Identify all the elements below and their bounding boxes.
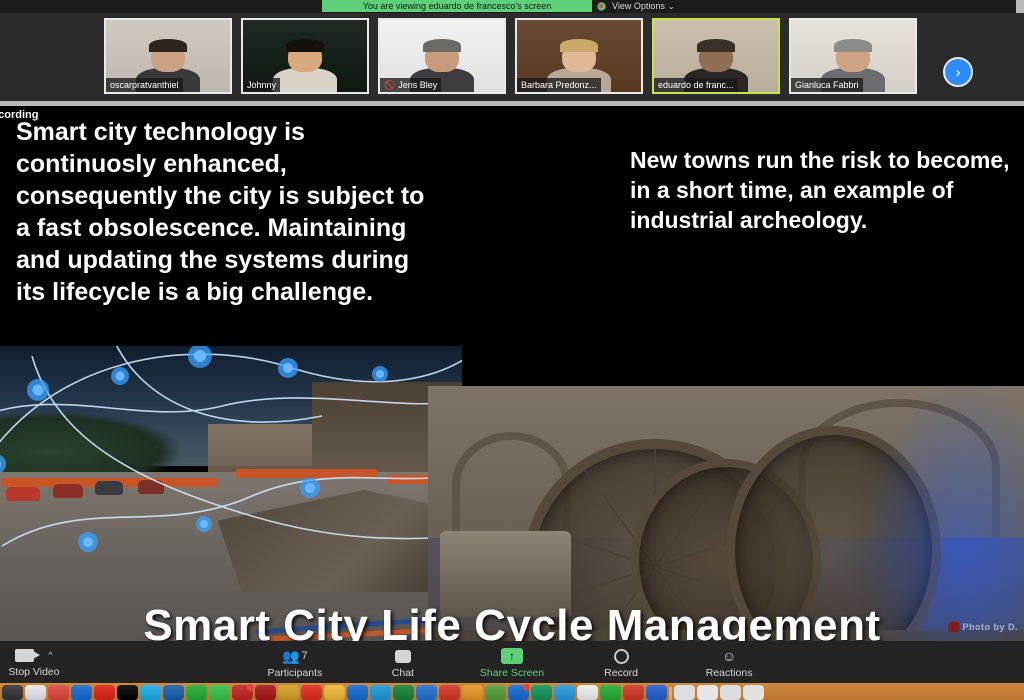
toolbar-item-label: Record (604, 667, 638, 679)
participant-name-text: Jens Bley (398, 78, 437, 92)
share-screen-icon: ↑ (501, 647, 523, 665)
thumbnail-row: oscarpratvanthielJohnny🚫Jens BleyBarbara… (0, 13, 1024, 101)
toolbar-item-label: Chat (392, 667, 414, 679)
toolbar-reactions-button[interactable]: ☺Reactions (698, 644, 760, 682)
watermark-dot-icon (948, 621, 960, 633)
record-icon (614, 647, 629, 665)
macos-dock[interactable] (0, 683, 1024, 700)
participant-name-label: eduardo de franc... (654, 78, 738, 92)
avatar-hair (834, 39, 871, 52)
slide-text-left: Smart city technology is continuosly enh… (16, 116, 436, 308)
participant-name-text: Johnny (247, 78, 276, 92)
dock-app-icon[interactable] (2, 685, 23, 700)
dock-app-icon[interactable] (347, 685, 368, 700)
toolbar-center-buttons: 👥7ParticipantsChat↑Share ScreenRecord☺Re… (0, 643, 1024, 683)
viewing-screen-notice: You are viewing eduardo de francesco's s… (322, 0, 592, 12)
avatar-hair (286, 39, 323, 52)
participant-thumbnail[interactable]: oscarpratvanthiel (104, 18, 232, 94)
reactions-icon: ☺ (722, 647, 736, 665)
window-edge (1016, 0, 1024, 13)
filmstrip-next-button[interactable]: › (943, 57, 973, 87)
toolbar-share-screen-button[interactable]: ↑Share Screen (480, 644, 544, 682)
dock-app-icon[interactable] (209, 685, 230, 700)
participant-thumbnail[interactable]: Johnny (241, 18, 369, 94)
toolbar-item-label: Reactions (706, 667, 753, 679)
dock-app-icon[interactable] (186, 685, 207, 700)
dock-minimized-window[interactable] (674, 685, 695, 700)
recording-label: ecording (0, 109, 38, 121)
dock-app-icon[interactable] (577, 685, 598, 700)
view-options-label: View Options (612, 1, 665, 11)
dock-minimized-window[interactable] (743, 685, 764, 700)
dock-badge (523, 684, 530, 691)
dock-app-icon[interactable] (600, 685, 621, 700)
dock-app-icon[interactable] (48, 685, 69, 700)
chevron-down-icon: ⌄ (668, 2, 675, 11)
viewing-banner-bar: You are viewing eduardo de francesco's s… (0, 0, 1024, 13)
dock-app-icon[interactable] (646, 685, 667, 700)
participants-icon: 👥7 (282, 647, 308, 665)
photo-watermark: Photo by D. (948, 621, 1019, 633)
dock-minimized-window[interactable] (697, 685, 718, 700)
dock-app-icon[interactable] (370, 685, 391, 700)
avatar-hair (149, 39, 186, 52)
dock-app-icon[interactable] (117, 685, 138, 700)
participant-name-label: oscarpratvanthiel (106, 78, 183, 92)
mic-muted-icon: 🚫 (384, 78, 395, 92)
shared-screen-content[interactable]: ecording (0, 106, 1024, 685)
participant-name-label: Gianluca Fabbri (791, 78, 863, 92)
dock-app-icon[interactable] (324, 685, 345, 700)
participant-name-text: oscarpratvanthiel (110, 78, 179, 92)
dock-app-icon[interactable] (531, 685, 552, 700)
participant-name-text: Gianluca Fabbri (795, 78, 859, 92)
shared-screen-divider (0, 101, 1024, 106)
participants-count: 7 (302, 650, 308, 662)
avatar-hair (697, 39, 734, 52)
dock-app-icon[interactable] (140, 685, 161, 700)
dock-app-icon[interactable] (163, 685, 184, 700)
dock-separator (669, 687, 672, 700)
dock-app-icon[interactable] (278, 685, 299, 700)
participant-thumbnail[interactable]: Barbara Predonz... (515, 18, 643, 94)
toolbar-item-label: Share Screen (480, 667, 544, 679)
dock-app-icon[interactable] (393, 685, 414, 700)
dock-app-icon[interactable] (71, 685, 92, 700)
participant-thumbnail[interactable]: Gianluca Fabbri (789, 18, 917, 94)
dock-app-icon[interactable] (25, 685, 46, 700)
toolbar-record-button[interactable]: Record (590, 644, 652, 682)
participant-name-label: 🚫Jens Bley (380, 78, 441, 92)
toolbar-chat-button[interactable]: Chat (372, 644, 434, 682)
participant-thumbnail[interactable]: 🚫Jens Bley (378, 18, 506, 94)
dock-app-icon[interactable] (94, 685, 115, 700)
dock-app-icon[interactable] (462, 685, 483, 700)
dock-app-icon[interactable] (255, 685, 276, 700)
dock-minimized-window[interactable] (720, 685, 741, 700)
dock-app-icon[interactable] (485, 685, 506, 700)
toolbar-item-label: Participants (267, 667, 322, 679)
recording-dot-icon (594, 0, 608, 12)
zoom-meeting-window: You are viewing eduardo de francesco's s… (0, 0, 1024, 700)
dock-app-icon[interactable] (416, 685, 437, 700)
chat-bubble-icon (395, 647, 411, 665)
chevron-right-icon: › (956, 65, 961, 80)
slide-text-right: New towns run the risk to become, in a s… (630, 146, 1010, 236)
avatar-hair (560, 39, 597, 52)
participant-filmstrip: oscarpratvanthielJohnny🚫Jens BleyBarbara… (0, 13, 1024, 101)
dock-app-icon[interactable] (232, 685, 253, 700)
meeting-toolbar: ^ Stop Video 👥7ParticipantsChat↑Share Sc… (0, 641, 1024, 683)
dock-app-icon[interactable] (439, 685, 460, 700)
dock-app-icon[interactable] (508, 685, 529, 700)
toolbar-participants-button[interactable]: 👥7Participants (264, 644, 326, 682)
dock-badge (247, 684, 254, 691)
avatar-hair (423, 39, 460, 52)
participant-name-text: Barbara Predonz... (521, 78, 597, 92)
dock-app-icon[interactable] (623, 685, 644, 700)
participant-name-text: eduardo de franc... (658, 78, 734, 92)
participant-name-label: Barbara Predonz... (517, 78, 601, 92)
participant-name-label: Johnny (243, 78, 280, 92)
view-options-button[interactable]: View Options⌄ (612, 0, 675, 12)
dock-app-icon[interactable] (554, 685, 575, 700)
participant-thumbnail[interactable]: eduardo de franc... (652, 18, 780, 94)
dock-app-icon[interactable] (301, 685, 322, 700)
